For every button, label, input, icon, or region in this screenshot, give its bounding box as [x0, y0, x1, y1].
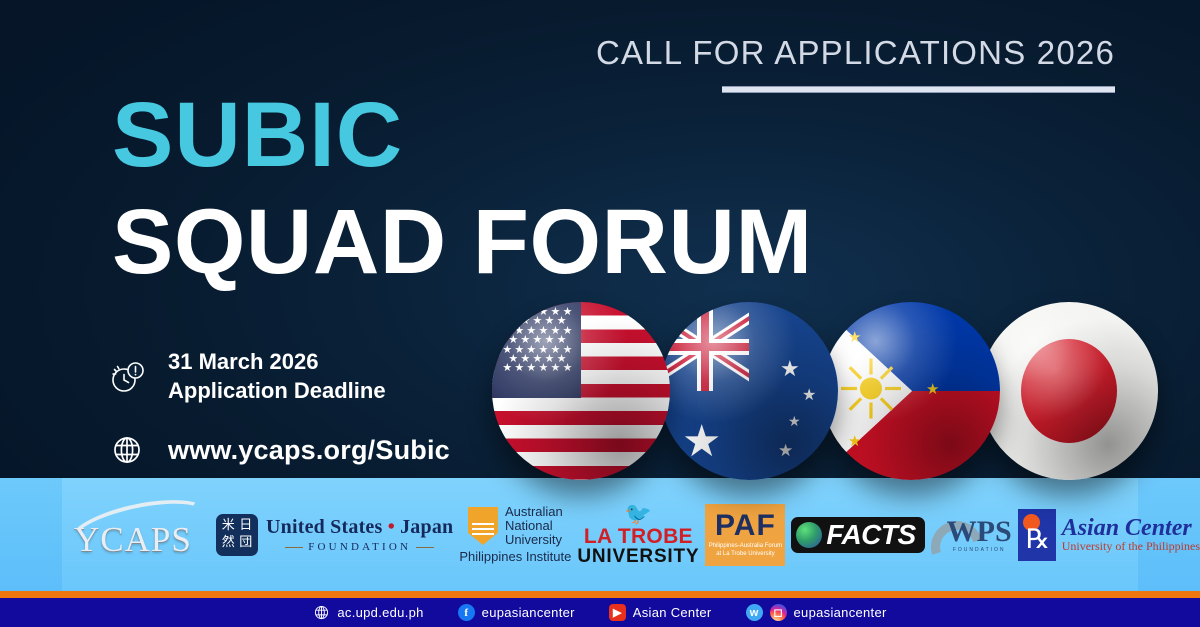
deadline-date: 31 March 2026 — [168, 348, 386, 377]
footer-facebook-label: eupasiancenter — [482, 605, 575, 620]
logo-anu-philippines-institute: Australian National University Philippin… — [459, 505, 571, 563]
footer-social-bar: ac.upd.edu.ph f eupasiancenter ▶ Asian C… — [0, 598, 1200, 627]
usjf-seal-char-4: 団 — [238, 535, 255, 552]
youtube-icon: ▶ — [609, 604, 626, 621]
jp-sun-disc — [1021, 339, 1117, 443]
footer-link-facebook[interactable]: f eupasiancenter — [458, 604, 575, 621]
website-row[interactable]: www.ycaps.org/Subic — [104, 427, 450, 473]
us-flag-face: ★★★★★★★★★★★★★★★★★★★★★★★★★★★★★★★★★★★★★★★ — [492, 302, 670, 480]
us-stars: ★★★★★★★★★★★★★★★★★★★★★★★★★★★★★★★★★★★★★★★ — [492, 302, 581, 398]
us-canton: ★★★★★★★★★★★★★★★★★★★★★★★★★★★★★★★★★★★★★★★ — [492, 302, 581, 398]
ph-sun — [840, 358, 902, 425]
usjf-seal-char-2: 日 — [238, 518, 255, 535]
flag-sphere-australia: ★ ★ ★ ★ ★ — [660, 302, 838, 480]
usjf-seal-char-3: 然 — [220, 535, 237, 552]
au-star-alpha: ★ — [780, 358, 800, 380]
wps-wordmark: WPS — [947, 517, 1012, 547]
eyebrow-heading: CALL FOR APPLICATIONS 2026 — [596, 34, 1115, 72]
asian-center-line2: University of the Philippines — [1062, 540, 1200, 553]
usjf-line1-a: United States — [266, 516, 388, 538]
flag-sphere-philippines: ★ ★ ★ — [822, 302, 1000, 480]
la-trobe-bird-icon: 🐦 — [625, 503, 652, 525]
paf-letters: PAF — [715, 511, 776, 541]
asian-center-swirl-icon: ℞ — [1026, 526, 1050, 553]
flag-sphere-united-states: ★★★★★★★★★★★★★★★★★★★★★★★★★★★★★★★★★★★★★★★ — [492, 302, 670, 480]
clock-alert-icon — [104, 354, 150, 400]
anu-line3: University — [505, 533, 563, 547]
usjf-seal-icon: 米 日 然 団 — [216, 514, 258, 556]
page-title: SUBIC SQUAD FORUM — [112, 92, 813, 288]
anu-subtitle: Philippines Institute — [459, 549, 571, 564]
asian-center-line1: Asian Center — [1062, 516, 1200, 540]
ph-star-bottom: ★ — [848, 434, 861, 449]
deadline-label: Application Deadline — [168, 377, 386, 406]
footer-link-website[interactable]: ac.upd.edu.ph — [313, 604, 423, 621]
ph-flag-face: ★ ★ ★ — [822, 302, 1000, 480]
anu-crest-icon — [468, 507, 498, 545]
anu-line1: Australian — [505, 505, 563, 519]
footer-youtube-label: Asian Center — [633, 605, 712, 620]
footer-link-twitter-instagram[interactable]: w ◻ eupasiancenter — [746, 604, 887, 621]
logo-asian-center: ℞ Asian Center University of the Philipp… — [1018, 509, 1200, 561]
facts-globe-icon — [796, 522, 822, 548]
flag-sphere-japan — [980, 302, 1158, 480]
au-star-beta: ★ — [802, 388, 816, 404]
jp-flag-face — [980, 302, 1158, 480]
logo-ycaps: YCAPS — [68, 504, 210, 566]
usjf-line1-b: Japan — [395, 516, 453, 538]
footer-orange-stripe — [0, 591, 1200, 598]
logo-paf: PAF Philippines-Australia Forum at La Tr… — [705, 504, 785, 566]
facts-wordmark: FACTS — [826, 521, 915, 549]
asian-center-text: Asian Center University of the Philippin… — [1062, 516, 1200, 554]
deadline-row: 31 March 2026 Application Deadline — [104, 348, 450, 405]
sponsor-band: YCAPS 米 日 然 団 United States • Japan FOUN… — [0, 478, 1200, 591]
globe-icon — [104, 427, 150, 473]
wps-subtitle: FOUNDATION — [953, 547, 1006, 553]
title-line-subic: SUBIC — [112, 92, 813, 178]
sponsor-logo-row: YCAPS 米 日 然 団 United States • Japan FOUN… — [62, 478, 1138, 591]
la-trobe-line1: LA TROBE — [584, 526, 693, 547]
au-star-delta: ★ — [778, 442, 793, 459]
flag-sphere-group: ★★★★★★★★★★★★★★★★★★★★★★★★★★★★★★★★★★★★★★★ … — [492, 302, 1132, 498]
website-url[interactable]: www.ycaps.org/Subic — [168, 435, 450, 466]
ph-star-right: ★ — [926, 382, 939, 397]
anu-top: Australian National University — [468, 505, 563, 546]
asian-center-mark-icon: ℞ — [1018, 509, 1056, 561]
usjf-text: United States • Japan FOUNDATION — [266, 516, 453, 553]
anu-name: Australian National University — [505, 505, 563, 546]
logo-facts: FACTS — [791, 517, 924, 553]
anu-line2: National — [505, 519, 563, 533]
au-star-gamma: ★ — [788, 414, 801, 428]
usjf-line1-dot: • — [388, 516, 395, 538]
facebook-icon: f — [458, 604, 475, 621]
usjf-line1: United States • Japan — [266, 516, 453, 539]
deadline-text: 31 March 2026 Application Deadline — [168, 348, 386, 405]
logo-la-trobe-university: 🐦 LA TROBE UNIVERSITY — [577, 503, 699, 567]
footer-twitter-instagram-label: eupasiancenter — [794, 605, 887, 620]
usjf-seal-char-1: 米 — [220, 518, 237, 535]
twitter-icon: w — [746, 604, 763, 621]
poster-canvas: CALL FOR APPLICATIONS 2026 SUBIC SQUAD F… — [0, 0, 1200, 627]
title-line-squad-forum: SQUAD FORUM — [112, 196, 813, 288]
instagram-icon: ◻ — [770, 604, 787, 621]
ph-star-top: ★ — [848, 330, 861, 345]
logo-us-japan-foundation: 米 日 然 団 United States • Japan FOUNDATION — [216, 514, 453, 556]
paf-caption: Philippines-Australia Forum at La Trobe … — [705, 543, 785, 558]
logo-wps-foundation: WPS FOUNDATION — [931, 517, 1012, 553]
la-trobe-line2: UNIVERSITY — [577, 547, 699, 566]
ycaps-wordmark: YCAPS — [74, 520, 192, 560]
au-union-jack — [660, 302, 749, 391]
usjf-line2: FOUNDATION — [266, 541, 453, 553]
footer-website-label: ac.upd.edu.ph — [337, 605, 423, 620]
globe-icon — [313, 604, 330, 621]
au-commonwealth-star: ★ — [682, 420, 721, 464]
au-flag-face: ★ ★ ★ ★ ★ — [660, 302, 838, 480]
footer-link-youtube[interactable]: ▶ Asian Center — [609, 604, 712, 621]
info-block: 31 March 2026 Application Deadline www.y… — [104, 348, 450, 473]
